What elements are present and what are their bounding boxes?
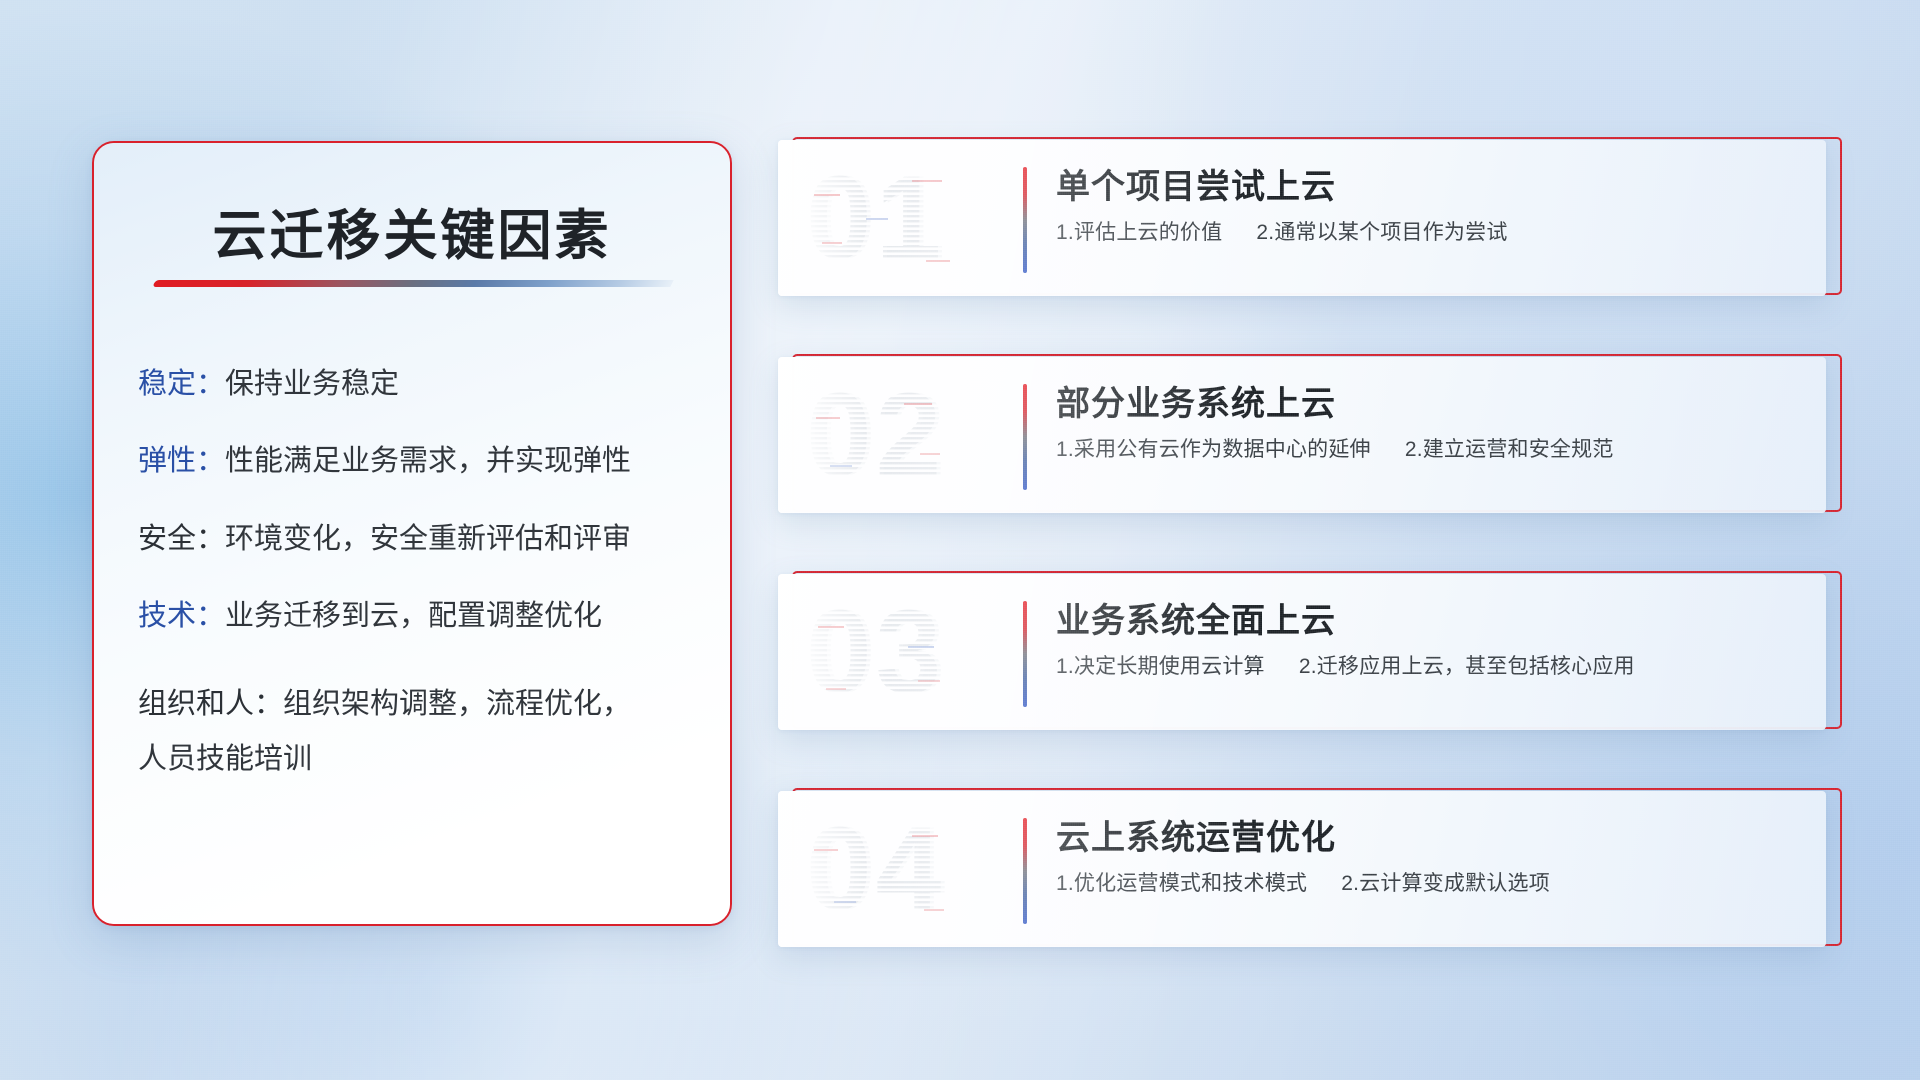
- svg-text:04: 04: [810, 803, 949, 935]
- factor-list: 稳定： 保持业务稳定 弹性： 性能满足业务需求，并实现弹性 安全： 环境变化，安…: [138, 367, 700, 798]
- card-content: 云上系统运营优化 1.优化运营模式和技术模式 2.云计算变成默认选项: [1056, 817, 1808, 897]
- factor-label: 弹性：: [138, 444, 225, 479]
- step-points: 1.评估上云的价值 2.通常以某个项目作为尝试: [1056, 216, 1808, 246]
- step-point-2: 2.建立运营和安全规范: [1405, 438, 1614, 461]
- step-number-glitch-icon: 04 04: [800, 801, 1000, 937]
- factor-text: 组织架构调整，流程优化，: [283, 688, 631, 720]
- card-content: 部分业务系统上云 1.采用公有云作为数据中心的延伸 2.建立运营和安全规范: [1056, 383, 1808, 463]
- list-item: 技术： 业务迁移到云，配置调整优化: [138, 599, 700, 634]
- factor-text: 保持业务稳定: [225, 367, 399, 402]
- card-surface: 01 01 单个项目尝试上云 1.评估上云的价值: [778, 140, 1826, 296]
- slide-canvas: 云迁移关键因素 稳定： 保持业务稳定 弹性： 性能满足业务需求，并实现弹性 安全…: [0, 0, 1920, 1080]
- title-underline-accent: [152, 280, 673, 287]
- step-point-1: 1.评估上云的价值: [1056, 221, 1222, 244]
- factor-label: 稳定：: [138, 367, 225, 402]
- step-card[interactable]: 03 03 业务系统全面上云 1.决定长期使用云计算: [778, 574, 1840, 732]
- page-title: 云迁移关键因素: [94, 191, 730, 270]
- card-accent-divider: [1023, 167, 1027, 273]
- svg-text:03: 03: [810, 586, 949, 718]
- step-number-glitch-icon: 01 01: [800, 150, 1000, 286]
- step-title: 单个项目尝试上云: [1056, 166, 1808, 210]
- step-point-2: 2.迁移应用上云，甚至包括核心应用: [1299, 655, 1635, 678]
- step-points: 1.采用公有云作为数据中心的延伸 2.建立运营和安全规范: [1056, 433, 1808, 463]
- step-point-2: 2.通常以某个项目作为尝试: [1256, 221, 1507, 244]
- key-factors-panel: 云迁移关键因素 稳定： 保持业务稳定 弹性： 性能满足业务需求，并实现弹性 安全…: [92, 141, 732, 926]
- step-point-1: 1.决定长期使用云计算: [1056, 655, 1265, 678]
- step-title: 云上系统运营优化: [1056, 817, 1808, 861]
- list-item: 安全： 环境变化，安全重新评估和评审: [138, 522, 700, 557]
- list-item: 组织和人：组织架构调整，流程优化， 人员技能培训: [138, 677, 700, 788]
- step-title: 部分业务系统上云: [1056, 383, 1808, 427]
- step-point-2: 2.云计算变成默认选项: [1341, 872, 1550, 895]
- list-item: 弹性： 性能满足业务需求，并实现弹性: [138, 444, 700, 479]
- factor-label: 安全：: [138, 522, 225, 557]
- card-surface: 02 02 部分业务系统上云 1.采用公有云作为数据中心的延伸: [778, 357, 1826, 513]
- step-card[interactable]: 02 02 部分业务系统上云 1.采用公有云作为数据中心的延伸: [778, 357, 1840, 515]
- list-item: 稳定： 保持业务稳定: [138, 367, 700, 402]
- factor-text: 业务迁移到云，配置调整优化: [225, 599, 602, 634]
- step-point-1: 1.采用公有云作为数据中心的延伸: [1056, 438, 1371, 461]
- svg-text:02: 02: [810, 369, 949, 501]
- factor-label: 组织和人：: [138, 688, 283, 720]
- card-surface: 04 04 云上系统运营优化 1.优化运营模式和技术模式: [778, 791, 1826, 947]
- card-content: 业务系统全面上云 1.决定长期使用云计算 2.迁移应用上云，甚至包括核心应用: [1056, 600, 1808, 680]
- step-points: 1.优化运营模式和技术模式 2.云计算变成默认选项: [1056, 867, 1808, 897]
- step-number-glitch-icon: 02 02: [800, 367, 1000, 503]
- factor-text: 性能满足业务需求，并实现弹性: [225, 444, 631, 479]
- step-card[interactable]: 01 01 单个项目尝试上云 1.评估上云的价值: [778, 140, 1840, 298]
- card-accent-divider: [1023, 601, 1027, 707]
- card-content: 单个项目尝试上云 1.评估上云的价值 2.通常以某个项目作为尝试: [1056, 166, 1808, 246]
- factor-text: 环境变化，安全重新评估和评审: [225, 522, 631, 557]
- card-accent-divider: [1023, 384, 1027, 490]
- card-accent-divider: [1023, 818, 1027, 924]
- step-title: 业务系统全面上云: [1056, 600, 1808, 644]
- step-number-glitch-icon: 03 03: [800, 584, 1000, 720]
- card-surface: 03 03 业务系统全面上云 1.决定长期使用云计算: [778, 574, 1826, 730]
- migration-steps-list: 01 01 单个项目尝试上云 1.评估上云的价值: [778, 140, 1840, 1008]
- factor-text-line2: 人员技能培训: [138, 743, 312, 775]
- step-points: 1.决定长期使用云计算 2.迁移应用上云，甚至包括核心应用: [1056, 650, 1808, 680]
- step-card[interactable]: 04 04 云上系统运营优化 1.优化运营模式和技术模式: [778, 791, 1840, 949]
- factor-label: 技术：: [138, 599, 225, 634]
- step-point-1: 1.优化运营模式和技术模式: [1056, 872, 1307, 895]
